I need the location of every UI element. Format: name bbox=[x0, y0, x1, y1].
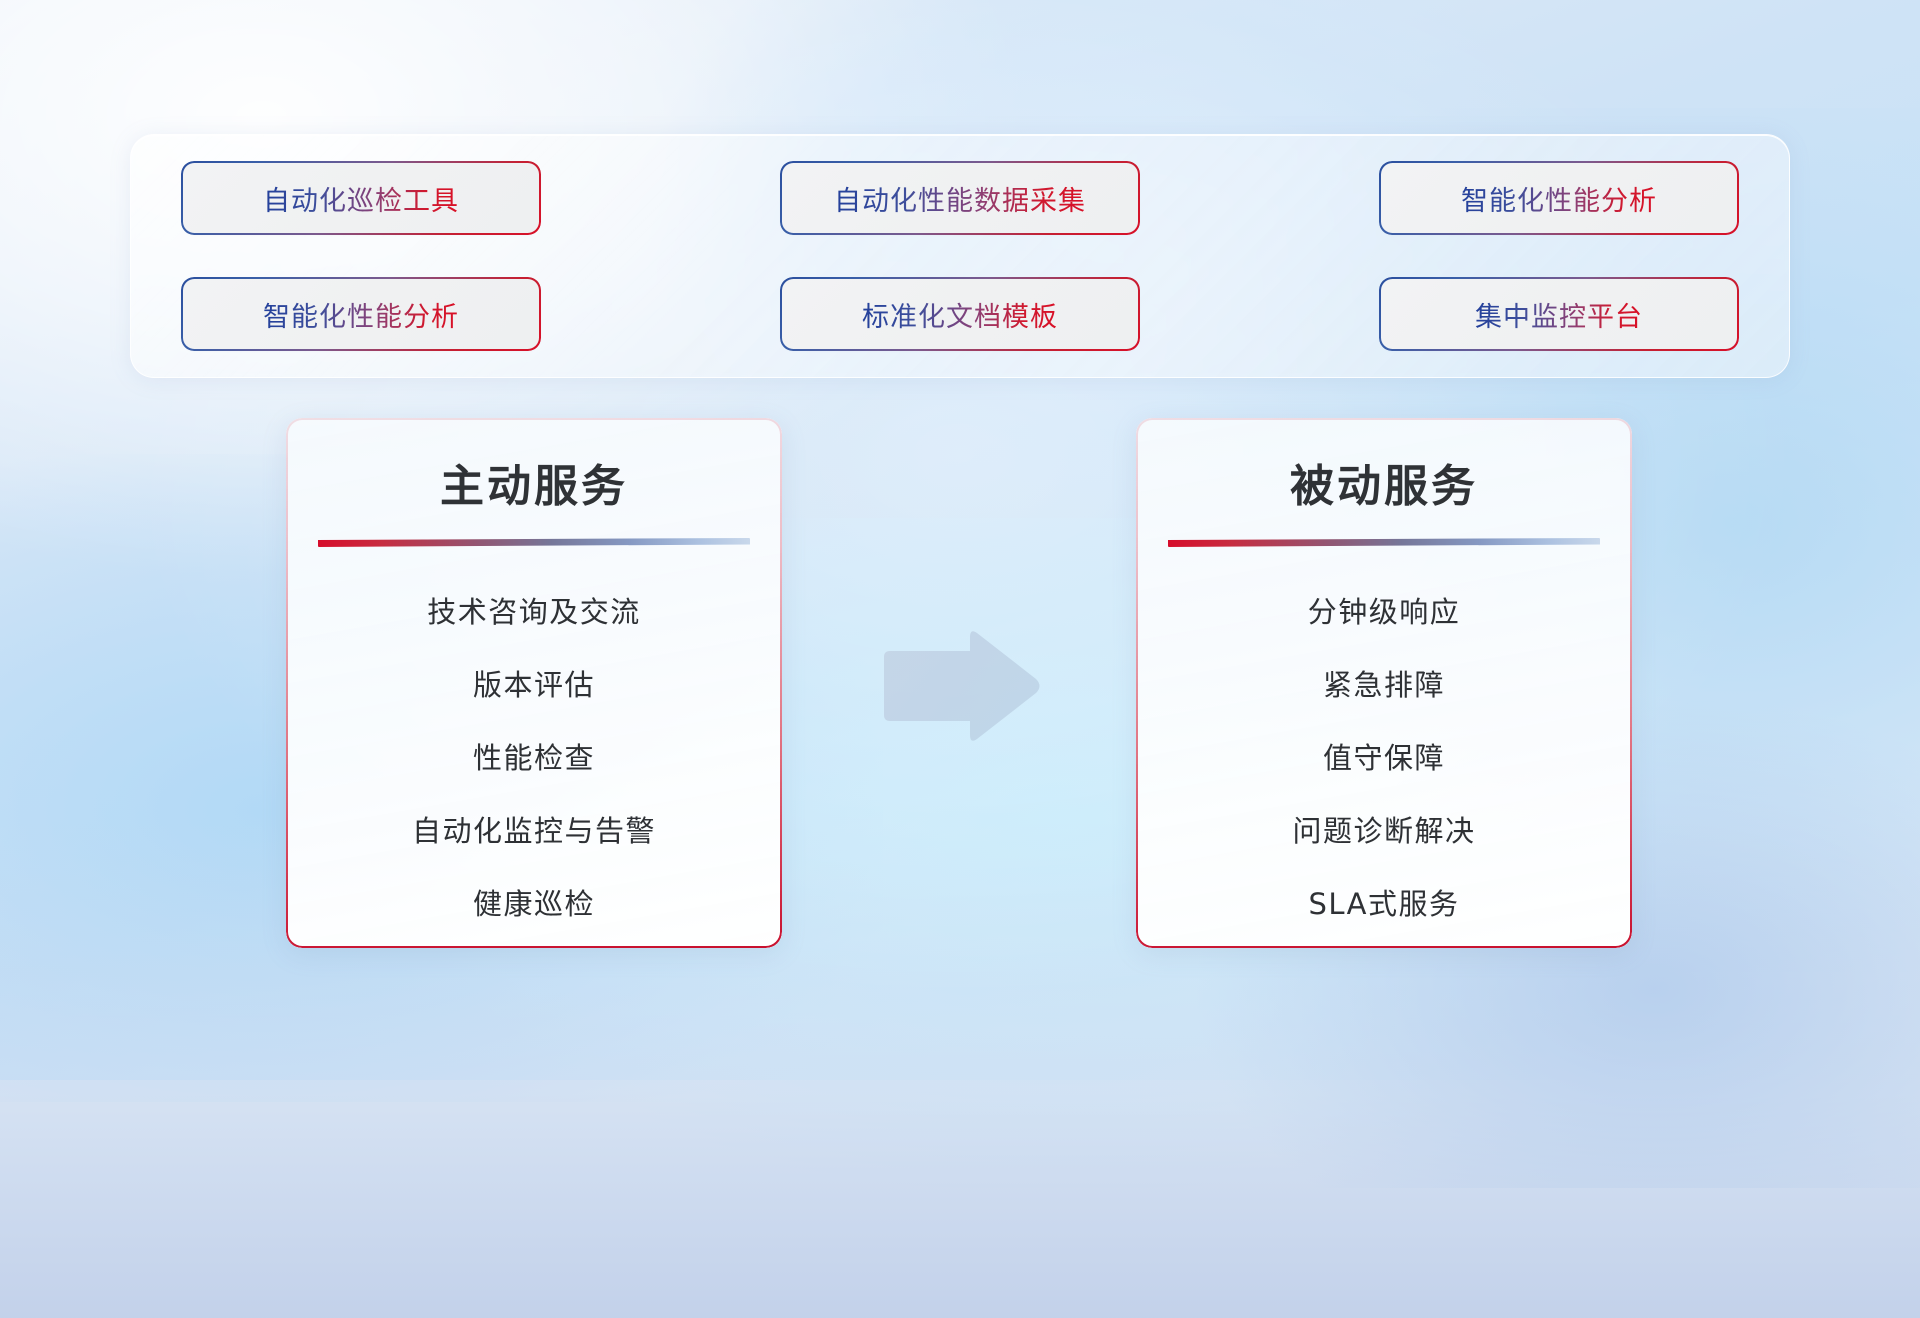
capability-pill-2-3[interactable]: 集中监控平台 bbox=[1381, 279, 1737, 349]
service-card-divider bbox=[318, 538, 750, 547]
list-item: 值守保障 bbox=[1323, 735, 1445, 777]
capability-pill-1-2[interactable]: 自动化性能数据采集 bbox=[782, 163, 1138, 233]
capability-pill-label: 自动化巡检工具 bbox=[263, 179, 459, 218]
service-card-title: 被动服务 bbox=[1136, 450, 1632, 514]
capability-pill-2-2[interactable]: 标准化文档模板 bbox=[782, 279, 1138, 349]
capability-pill-label: 集中监控平台 bbox=[1475, 295, 1643, 334]
list-item: 版本评估 bbox=[473, 662, 595, 704]
service-card-reactive: 被动服务 分钟级响应 紧急排障 值守保障 问题诊断解决 SLA式服务 bbox=[1136, 418, 1632, 948]
list-item: 自动化监控与告警 bbox=[412, 808, 656, 850]
capability-pill-1-3[interactable]: 智能化性能分析 bbox=[1381, 163, 1737, 233]
capability-pill-label: 智能化性能分析 bbox=[263, 295, 459, 334]
list-item: 健康巡检 bbox=[473, 881, 595, 923]
list-item: 紧急排障 bbox=[1323, 662, 1445, 704]
list-item: SLA式服务 bbox=[1308, 881, 1459, 923]
service-card-divider bbox=[1168, 538, 1600, 547]
list-item: 性能检查 bbox=[473, 735, 595, 777]
capability-panel: 自动化巡检工具 自动化性能数据采集 智能化性能分析 智能化性能分析 标准化文档模… bbox=[130, 134, 1790, 378]
service-card-list: 分钟级响应 紧急排障 值守保障 问题诊断解决 SLA式服务 bbox=[1136, 589, 1632, 923]
capability-pill-2-1[interactable]: 智能化性能分析 bbox=[183, 279, 539, 349]
list-item: 技术咨询及交流 bbox=[427, 589, 641, 631]
list-item: 问题诊断解决 bbox=[1292, 808, 1475, 850]
capability-row-1: 自动化巡检工具 自动化性能数据采集 智能化性能分析 bbox=[183, 163, 1737, 233]
capability-pill-label: 智能化性能分析 bbox=[1461, 179, 1657, 218]
service-card-title: 主动服务 bbox=[286, 450, 782, 514]
capability-row-2: 智能化性能分析 标准化文档模板 集中监控平台 bbox=[183, 279, 1737, 349]
capability-pill-label: 标准化文档模板 bbox=[862, 295, 1058, 334]
capability-pill-label: 自动化性能数据采集 bbox=[834, 179, 1086, 218]
list-item: 分钟级响应 bbox=[1308, 589, 1461, 631]
arrow-right-icon bbox=[878, 627, 1044, 745]
service-card-list: 技术咨询及交流 版本评估 性能检查 自动化监控与告警 健康巡检 bbox=[286, 589, 782, 923]
service-card-proactive: 主动服务 技术咨询及交流 版本评估 性能检查 自动化监控与告警 健康巡检 bbox=[286, 418, 782, 948]
capability-pill-1-1[interactable]: 自动化巡检工具 bbox=[183, 163, 539, 233]
